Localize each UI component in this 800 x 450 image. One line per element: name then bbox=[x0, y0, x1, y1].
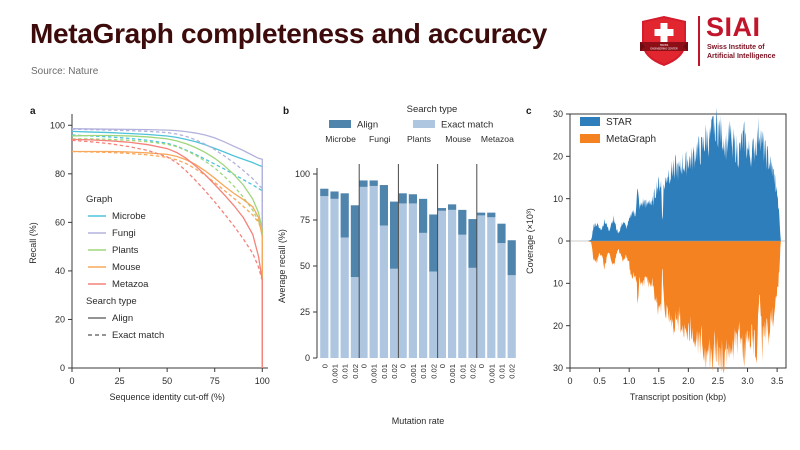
panel-b-bar-exact-match bbox=[429, 272, 437, 358]
panel-b-x-ticklabel: 0.001 bbox=[331, 364, 340, 383]
figure-container: a 0204060801000255075100Sequence identit… bbox=[0, 96, 800, 426]
panel-b-x-ticklabel: 0.01 bbox=[380, 364, 389, 379]
panel-b-bar-exact-match bbox=[409, 203, 417, 358]
panel-b-bar-align bbox=[458, 210, 466, 235]
panel-b-legend-swatch-align bbox=[329, 120, 351, 128]
panel-b-bar-exact-match bbox=[359, 187, 367, 358]
panel-b-legend-swatch-exact-match bbox=[413, 120, 435, 128]
panel-b-bar-exact-match bbox=[341, 237, 349, 358]
panel-b-x-ticklabel: 0 bbox=[438, 364, 447, 368]
panel-a-x-ticklabel: 75 bbox=[210, 376, 220, 386]
panel-b-bar-align bbox=[468, 219, 476, 268]
panel-c-letter: c bbox=[526, 106, 532, 117]
panel-a-legend-stylelabel-exact-match: Exact match bbox=[112, 330, 164, 341]
panel-a-series-microbe-exact-match bbox=[72, 135, 262, 368]
panel-b-bar-exact-match bbox=[497, 243, 505, 358]
panel-b-y-ticklabel: 100 bbox=[295, 169, 310, 179]
panel-b-x-ticklabel: 0.001 bbox=[448, 364, 457, 383]
panel-c-x-ticklabel: 0 bbox=[567, 376, 572, 386]
panel-a-series-plants-exact-match bbox=[72, 139, 262, 368]
panel-b-x-ticklabel: 0 bbox=[320, 364, 329, 368]
panel-b-bar-align bbox=[370, 180, 378, 186]
panel-a-legend-label-microbe: Microbe bbox=[112, 211, 146, 222]
panel-b-x-ticklabel: 0.001 bbox=[409, 364, 418, 383]
panel-b-bar-align bbox=[390, 202, 398, 269]
panel-b-group-label-microbe: Microbe bbox=[325, 134, 356, 144]
panel-b-legend-label-align: Align bbox=[357, 120, 378, 131]
panel-b-bar-exact-match bbox=[419, 233, 427, 358]
panel-b-bar-align bbox=[380, 185, 388, 225]
svg-text:ENGINEERING CENTER: ENGINEERING CENTER bbox=[650, 47, 678, 50]
panel-a-x-ticklabel: 100 bbox=[255, 376, 270, 386]
panel-c-y-ticklabel: 10 bbox=[553, 194, 563, 204]
swiss-shield-icon: SWISS ENGINEERING CENTER bbox=[638, 14, 690, 68]
panel-c-area-metagraph bbox=[570, 241, 786, 374]
logo-brand-text: SIAI bbox=[706, 14, 761, 41]
panel-b-x-ticklabel: 0 bbox=[360, 364, 369, 368]
panel-a-legend-label-fungi: Fungi bbox=[112, 228, 136, 239]
panel-c-ylabel: Coverage (×10³) bbox=[525, 208, 535, 274]
panel-b-bar-exact-match bbox=[380, 226, 388, 358]
panel-c-legend-label-metagraph: MetaGraph bbox=[606, 134, 656, 145]
panel-c-x-ticklabel: 0.5 bbox=[593, 376, 606, 386]
panel-b-group-label-mouse: Mouse bbox=[445, 134, 471, 144]
panel-b-group-label-fungi: Fungi bbox=[369, 134, 391, 144]
panel-b-bar-align bbox=[359, 180, 367, 186]
panel-b-bar-exact-match bbox=[477, 215, 485, 358]
panel-a-series-plants-align bbox=[72, 135, 262, 368]
panel-b-y-ticklabel: 75 bbox=[300, 215, 310, 225]
panel-b-bar-align bbox=[330, 191, 338, 198]
panel-b-x-ticklabel: 0.001 bbox=[487, 364, 496, 383]
panel-a-series-mouse-exact-match bbox=[72, 152, 262, 369]
panel-b-bar-exact-match bbox=[390, 269, 398, 358]
source-caption: Source: Nature bbox=[31, 66, 98, 77]
panel-b-bar-align bbox=[351, 205, 359, 277]
panel-b-bar-align bbox=[320, 189, 328, 196]
panel-b-y-ticklabel: 0 bbox=[305, 353, 310, 363]
panel-b-legend-title: Search type bbox=[407, 104, 458, 115]
panel-a-legend-label-plants: Plants bbox=[112, 245, 139, 256]
panel-b-bar-exact-match bbox=[438, 211, 446, 358]
panel-b-x-ticklabel: 0.001 bbox=[370, 364, 379, 383]
svg-text:SWISS: SWISS bbox=[660, 43, 669, 47]
panel-b-x-ticklabel: 0.01 bbox=[498, 364, 507, 379]
panel-a-letter: a bbox=[30, 106, 36, 117]
panel-a-x-ticklabel: 25 bbox=[115, 376, 125, 386]
panel-b-bar-exact-match bbox=[370, 186, 378, 358]
panel-b-x-ticklabel: 0.01 bbox=[419, 364, 428, 379]
panel-a-legend-stylelabel-align: Align bbox=[112, 313, 133, 324]
panel-c-x-ticklabel: 3.5 bbox=[771, 376, 784, 386]
siai-logo: SWISS ENGINEERING CENTER SIAI Swiss Inst… bbox=[638, 12, 788, 70]
panel-c-y-ticklabel: 0 bbox=[558, 236, 563, 246]
panel-b-x-ticklabel: 0.01 bbox=[458, 364, 467, 379]
panel-b-bar-align bbox=[487, 213, 495, 218]
panel-b-plot: Search typeAlignExact match0255075100Ave… bbox=[275, 96, 525, 426]
panel-b-bar-align bbox=[448, 204, 456, 210]
panel-a-series-fungi-exact-match bbox=[72, 129, 262, 368]
panel-b: b Search typeAlignExact match0255075100A… bbox=[275, 96, 525, 426]
panel-b-bar-exact-match bbox=[458, 235, 466, 358]
panel-b-bar-exact-match bbox=[468, 268, 476, 358]
panel-a-y-ticklabel: 100 bbox=[50, 120, 65, 130]
panel-b-bar-align bbox=[438, 208, 446, 211]
panel-c-y-ticklabel: 20 bbox=[553, 152, 563, 162]
panel-a-y-ticklabel: 20 bbox=[55, 315, 65, 325]
panel-b-bar-exact-match bbox=[320, 196, 328, 358]
panel-a: a 0204060801000255075100Sequence identit… bbox=[20, 96, 275, 426]
panel-a-legend-title-searchtype: Search type bbox=[86, 296, 137, 307]
panel-b-x-ticklabel: 0.01 bbox=[341, 364, 350, 379]
panel-c-y-ticklabel: 20 bbox=[553, 321, 563, 331]
panel-c-legend-swatch-metagraph bbox=[580, 134, 600, 143]
panel-b-bar-exact-match bbox=[508, 275, 516, 358]
panel-c-legend-label-star: STAR bbox=[606, 117, 632, 128]
panel-b-x-ticklabel: 0 bbox=[477, 364, 486, 368]
logo-subtitle-line1: Swiss Institute of bbox=[707, 43, 789, 52]
logo-subtitle-line2: Artificial Intelligence bbox=[707, 52, 789, 61]
panel-a-x-ticklabel: 0 bbox=[69, 376, 74, 386]
panel-b-bar-align bbox=[399, 193, 407, 203]
panel-b-bar-align bbox=[419, 199, 427, 233]
panel-a-series-fungi-align bbox=[72, 129, 262, 368]
panel-b-bar-exact-match bbox=[399, 203, 407, 358]
panel-c-y-ticklabel: 30 bbox=[553, 109, 563, 119]
panel-a-legend-label-mouse: Mouse bbox=[112, 262, 141, 273]
panel-b-x-ticklabel: 0.02 bbox=[508, 364, 517, 379]
panel-c-x-ticklabel: 2.5 bbox=[712, 376, 725, 386]
panel-c-x-ticklabel: 1.0 bbox=[623, 376, 636, 386]
page-header: MetaGraph completeness and accuracy Sour… bbox=[0, 0, 800, 92]
panel-a-xlabel: Sequence identity cut-off (%) bbox=[109, 392, 224, 402]
panel-b-group-label-plants: Plants bbox=[407, 134, 431, 144]
panel-b-legend-label-exact-match: Exact match bbox=[441, 120, 493, 131]
panel-a-legend-title-graph: Graph bbox=[86, 194, 112, 205]
panel-a-plot: 0204060801000255075100Sequence identity … bbox=[20, 96, 275, 426]
panel-a-y-ticklabel: 40 bbox=[55, 266, 65, 276]
panel-b-bar-exact-match bbox=[351, 277, 359, 358]
panel-a-ylabel: Recall (%) bbox=[28, 222, 38, 264]
panel-b-bar-align bbox=[477, 213, 485, 216]
panel-b-ylabel: Average recall (%) bbox=[277, 229, 287, 303]
panel-c-plot: 302010010203000.51.01.52.02.53.03.5Trans… bbox=[520, 96, 800, 426]
panel-b-y-ticklabel: 50 bbox=[300, 261, 310, 271]
logo-divider bbox=[698, 16, 700, 66]
panel-c-x-ticklabel: 2.0 bbox=[682, 376, 695, 386]
panel-c-legend-swatch-star bbox=[580, 117, 600, 126]
panel-c-y-ticklabel: 10 bbox=[553, 279, 563, 289]
panel-b-bar-align bbox=[508, 240, 516, 275]
panel-a-y-ticklabel: 60 bbox=[55, 218, 65, 228]
panel-b-xlabel: Mutation rate bbox=[392, 416, 445, 426]
panel-c-xlabel: Transcript position (kbp) bbox=[630, 392, 726, 402]
panel-b-bar-exact-match bbox=[448, 210, 456, 358]
panel-b-group-label-metazoa: Metazoa bbox=[481, 134, 514, 144]
panel-a-legend-label-metazoa: Metazoa bbox=[112, 279, 149, 290]
panel-c-area-star bbox=[570, 107, 786, 241]
panel-b-x-ticklabel: 0 bbox=[399, 364, 408, 368]
page-title: MetaGraph completeness and accuracy bbox=[30, 18, 547, 50]
panel-b-y-ticklabel: 25 bbox=[300, 307, 310, 317]
panel-c: c 302010010203000.51.01.52.02.53.03.5Tra… bbox=[520, 96, 800, 426]
panel-a-y-ticklabel: 80 bbox=[55, 169, 65, 179]
panel-b-bar-align bbox=[409, 194, 417, 203]
panel-b-bar-exact-match bbox=[330, 199, 338, 358]
panel-b-bar-align bbox=[341, 193, 349, 237]
logo-subtitle: Swiss Institute of Artificial Intelligen… bbox=[707, 43, 789, 61]
panel-b-bar-align bbox=[429, 214, 437, 271]
panel-b-letter: b bbox=[283, 106, 289, 117]
panel-c-y-ticklabel: 30 bbox=[553, 363, 563, 373]
panel-c-x-ticklabel: 3.0 bbox=[741, 376, 754, 386]
panel-a-series-mouse-align bbox=[72, 152, 262, 369]
panel-c-x-ticklabel: 1.5 bbox=[653, 376, 666, 386]
panel-a-y-ticklabel: 0 bbox=[60, 363, 65, 373]
panel-a-x-ticklabel: 50 bbox=[162, 376, 172, 386]
panel-b-bar-align bbox=[497, 224, 505, 243]
panel-b-bar-exact-match bbox=[487, 217, 495, 358]
